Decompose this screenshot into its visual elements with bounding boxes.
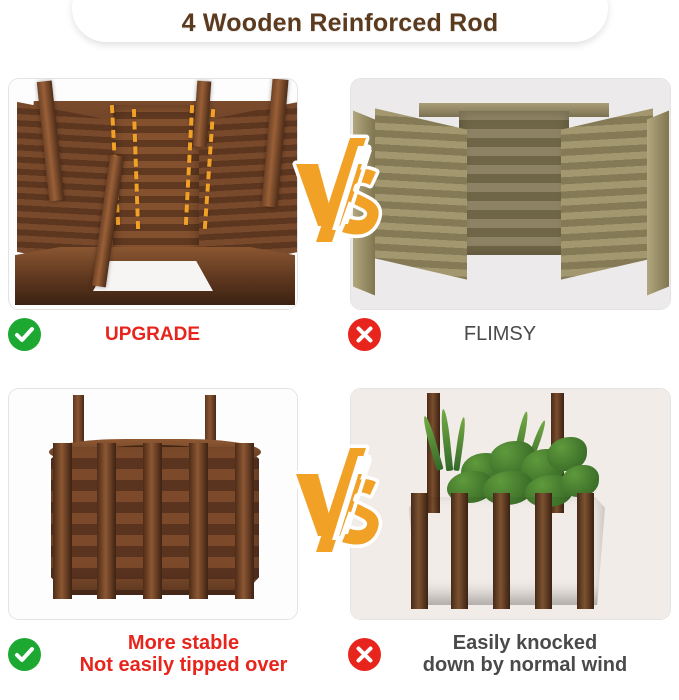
comparison-row-2 [0,388,679,620]
wood-right-wing [561,108,653,279]
comparison-panels [0,78,679,310]
photo-charred-planter-interior [9,79,297,309]
comparison-row-1 [0,78,679,310]
vertical-slat [493,493,510,609]
verdict-flimsy: FLIMSY [340,318,679,351]
check-circle-icon [8,318,41,351]
x-circle-icon [348,318,381,351]
product-photo-upgrade-bottom[interactable] [8,388,298,620]
vertical-slat [577,493,594,609]
verdict-row-1: UPGRADE FLIMSY [0,318,679,351]
vertical-slat [411,493,428,609]
verdict-label: FLIMSY [381,323,679,345]
page-title: 4 Wooden Reinforced Rod [182,9,499,38]
verdict-label: More stable Not easily tipped over [41,632,340,677]
verdict-row-2: More stable Not easily tipped over Easil… [0,632,679,677]
vertical-slat [53,443,72,599]
photo-planted-planter [351,389,670,619]
x-circle-icon [348,638,381,671]
verdict-label: Easily knocked down by normal wind [381,632,679,677]
wood-edge-left [353,111,375,296]
verdict-more-stable: More stable Not easily tipped over [0,632,340,677]
vertical-slat [189,443,208,599]
wood-left-wing [375,108,467,279]
wood-edge-right [647,111,669,296]
vertical-slat [451,493,468,609]
vertical-slat [143,443,162,599]
comparison-panels [0,388,679,620]
vertical-slat [535,493,552,609]
photo-octagonal-planter [9,389,297,619]
plant-foliage [421,413,601,505]
wood-backwall [459,111,569,255]
vertical-slat [97,443,116,599]
product-photo-upgrade-top[interactable] [8,78,298,310]
planter-inner-floor [93,261,213,291]
header-banner: 4 Wooden Reinforced Rod [72,0,608,42]
product-photo-flimsy-bottom[interactable] [350,388,671,620]
verdict-label: UPGRADE [41,324,340,345]
verdict-upgrade: UPGRADE [0,318,340,351]
photo-plain-planter-corner [351,79,670,309]
check-circle-icon [8,638,41,671]
verdict-easily-knocked: Easily knocked down by normal wind [340,632,679,677]
vertical-slat [235,443,254,599]
product-photo-flimsy-top[interactable] [350,78,671,310]
